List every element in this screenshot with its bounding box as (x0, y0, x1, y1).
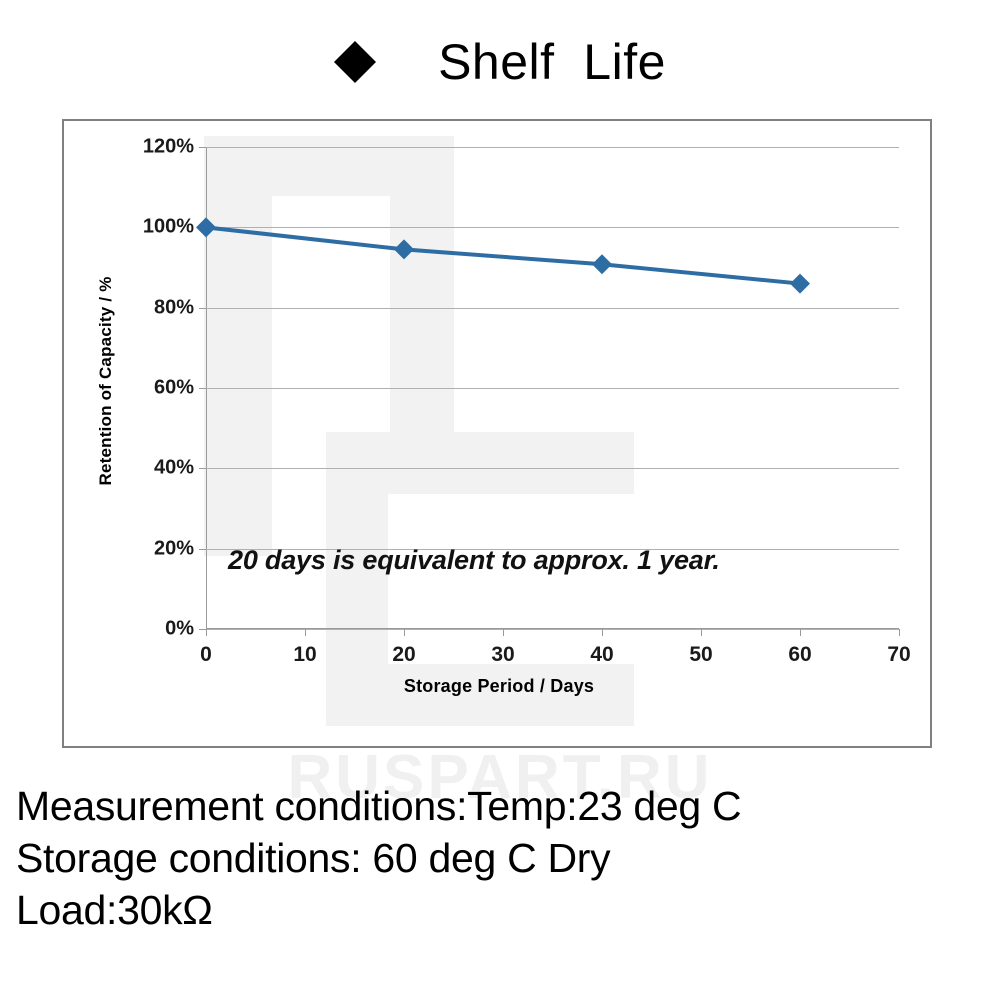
page-title: Shelf Life (438, 37, 666, 87)
condition-line-storage: Storage conditions: 60 deg C Dry (16, 832, 996, 884)
x-tick-label: 70 (887, 643, 910, 667)
chart-title-row: Shelf Life (0, 22, 1000, 102)
series-line (206, 227, 800, 283)
y-tick-label: 0% (165, 618, 194, 641)
condition-line-load: Load:30kΩ (16, 884, 996, 936)
x-tick-label: 20 (392, 643, 415, 667)
x-tick-label: 50 (689, 643, 712, 667)
x-tick-label: 60 (788, 643, 811, 667)
x-tick-label: 10 (293, 643, 316, 667)
y-tick-label: 80% (154, 296, 194, 319)
gridline (206, 629, 899, 630)
x-tick-mark (701, 629, 702, 636)
data-point-marker (196, 217, 216, 237)
x-axis-title: Storage Period / Days (64, 676, 932, 697)
condition-line-measurement: Measurement conditions:Temp:23 deg C (16, 780, 996, 832)
conditions-block: Measurement conditions:Temp:23 deg C Sto… (16, 780, 996, 936)
black-diamond-marker-icon (334, 20, 376, 62)
y-tick-label: 120% (143, 136, 194, 159)
y-tick-mark (199, 388, 206, 389)
x-tick-mark (305, 629, 306, 636)
y-tick-mark (199, 629, 206, 630)
y-tick-mark (199, 549, 206, 550)
chart-container: Retention of Capacity / % Storage Period… (62, 119, 932, 748)
x-tick-mark (800, 629, 801, 636)
y-tick-mark (199, 468, 206, 469)
data-point-marker (592, 254, 612, 274)
y-tick-label: 60% (154, 377, 194, 400)
y-tick-label: 20% (154, 537, 194, 560)
y-tick-mark (199, 147, 206, 148)
plot-annotation: 20 days is equivalent to approx. 1 year. (228, 545, 720, 576)
data-point-marker (394, 239, 414, 259)
x-tick-label: 30 (491, 643, 514, 667)
plot-area: 0%20%40%60%80%100%120% 010203040506070 2… (206, 147, 899, 629)
data-point-marker (790, 274, 810, 294)
y-axis-title: Retention of Capacity / % (96, 191, 116, 571)
y-tick-label: 100% (143, 216, 194, 239)
x-tick-label: 0 (200, 643, 212, 667)
y-tick-mark (199, 308, 206, 309)
y-tick-label: 40% (154, 457, 194, 480)
x-tick-mark (602, 629, 603, 636)
x-tick-mark (503, 629, 504, 636)
x-tick-mark (899, 629, 900, 636)
x-tick-label: 40 (590, 643, 613, 667)
x-tick-mark (206, 629, 207, 636)
x-tick-mark (404, 629, 405, 636)
